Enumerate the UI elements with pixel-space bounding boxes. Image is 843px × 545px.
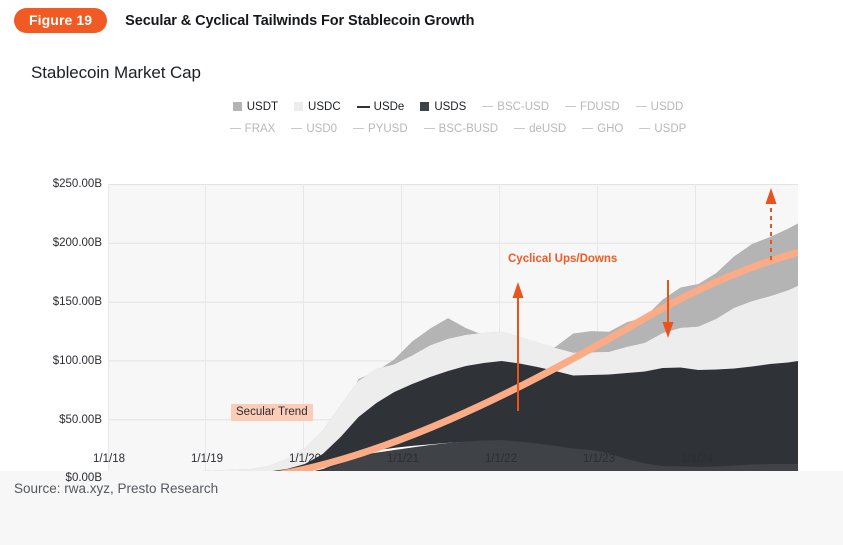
y-tick-250: $250.00B <box>53 178 102 190</box>
y-tick-100: $100.00B <box>53 355 102 367</box>
legend-item-gho[interactable]: GHO <box>582 123 623 135</box>
legend-item-usde[interactable]: USDe <box>357 101 405 113</box>
x-axis-labels: 1/1/18 1/1/19 1/1/20 1/1/21 1/1/22 1/1/2… <box>0 453 843 473</box>
figure-badge: Figure 19 <box>14 8 107 33</box>
grid-vertical <box>109 184 696 471</box>
legend-swatch-line <box>357 106 370 108</box>
legend-item-bsc-usd[interactable]: BSC-USD <box>482 101 549 113</box>
x-tick-2021: 1/1/21 <box>387 453 419 465</box>
y-tick-200: $200.00B <box>53 237 102 249</box>
x-tick-2024: 1/1/24 <box>681 453 713 465</box>
legend-swatch-line-thin <box>639 128 650 130</box>
legend-label: PYUSD <box>368 123 408 135</box>
annotation-cyclical-ups-downs: Cyclical Ups/Downs <box>508 253 617 265</box>
legend-label: BSC-BUSD <box>439 123 498 135</box>
legend-row-1: USDTUSDCUSDeUSDSBSC-USDFDUSDUSDD <box>108 98 808 115</box>
figure-header: Figure 19 Secular & Cyclical Tailwinds F… <box>0 0 843 41</box>
legend-label: BSC-USD <box>497 101 549 113</box>
legend-row-2: FRAXUSD0PYUSDBSC-BUSDdeUSDGHOUSDP <box>108 120 808 137</box>
up-arrow-projection <box>766 188 777 260</box>
legend-item-fdusd[interactable]: FDUSD <box>565 101 620 113</box>
legend-item-usdd[interactable]: USDD <box>636 101 684 113</box>
x-tick-2023: 1/1/23 <box>583 453 615 465</box>
legend-label: USD0 <box>306 123 337 135</box>
legend-label: FDUSD <box>580 101 620 113</box>
legend-item-usdt[interactable]: USDT <box>233 101 278 113</box>
chart-card: Stablecoin Market Cap USDTUSDCUSDeUSDSBS… <box>0 41 843 471</box>
plot-background <box>108 184 798 471</box>
legend-swatch-line-thin <box>353 128 364 130</box>
secular-trend-line <box>262 253 796 471</box>
legend-swatch-line-thin <box>565 106 576 108</box>
x-tick-2022: 1/1/22 <box>485 453 517 465</box>
source-note: Source: rwa.xyz, Presto Research <box>14 481 218 496</box>
legend-label: USDC <box>308 101 341 113</box>
figure-title: Secular & Cyclical Tailwinds For Stablec… <box>125 13 474 29</box>
up-arrow-peak <box>513 282 524 411</box>
chart-legend: USDTUSDCUSDeUSDSBSC-USDFDUSDUSDD FRAXUSD… <box>108 98 808 137</box>
grid-horizontal <box>108 185 798 472</box>
legend-swatch-box <box>294 102 303 111</box>
legend-label: USDS <box>434 101 466 113</box>
annotation-secular-trend: Secular Trend <box>231 404 313 421</box>
legend-swatch-line-thin <box>291 128 302 130</box>
y-tick-150: $150.00B <box>53 296 102 308</box>
screenshot-root: Figure 19 Secular & Cyclical Tailwinds F… <box>0 0 843 545</box>
legend-label: GHO <box>597 123 623 135</box>
x-tick-2019: 1/1/19 <box>191 453 223 465</box>
legend-swatch-box <box>420 102 429 111</box>
legend-item-pyusd[interactable]: PYUSD <box>353 123 408 135</box>
legend-item-deusd[interactable]: deUSD <box>514 123 566 135</box>
legend-swatch-line-thin <box>482 106 493 108</box>
y-tick-50: $50.00B <box>59 414 102 426</box>
down-arrow-trough <box>663 280 674 338</box>
legend-label: USDD <box>651 101 684 113</box>
area-usdc <box>108 286 798 471</box>
legend-item-usd0[interactable]: USD0 <box>291 123 337 135</box>
legend-item-usds[interactable]: USDS <box>420 101 466 113</box>
area-usdt <box>108 224 798 472</box>
legend-swatch-line-thin <box>514 128 525 130</box>
legend-label: USDT <box>247 101 278 113</box>
legend-swatch-line-thin <box>636 106 647 108</box>
legend-swatch-line-thin <box>582 128 593 130</box>
legend-swatch-line-thin <box>424 128 435 130</box>
x-tick-2018: 1/1/18 <box>93 453 125 465</box>
legend-item-bsc-busd[interactable]: BSC-BUSD <box>424 123 498 135</box>
legend-item-usdp[interactable]: USDP <box>639 123 686 135</box>
legend-swatch-box <box>233 102 242 111</box>
legend-swatch-line-thin <box>230 128 241 130</box>
legend-label: USDP <box>654 123 686 135</box>
y-axis-labels: $250.00B $200.00B $150.00B $100.00B $50.… <box>22 41 102 471</box>
legend-label: FRAX <box>245 123 276 135</box>
legend-item-usdc[interactable]: USDC <box>294 101 341 113</box>
legend-label: deUSD <box>529 123 566 135</box>
legend-label: USDe <box>374 101 405 113</box>
x-tick-2020: 1/1/20 <box>289 453 321 465</box>
legend-item-frax[interactable]: FRAX <box>230 123 276 135</box>
